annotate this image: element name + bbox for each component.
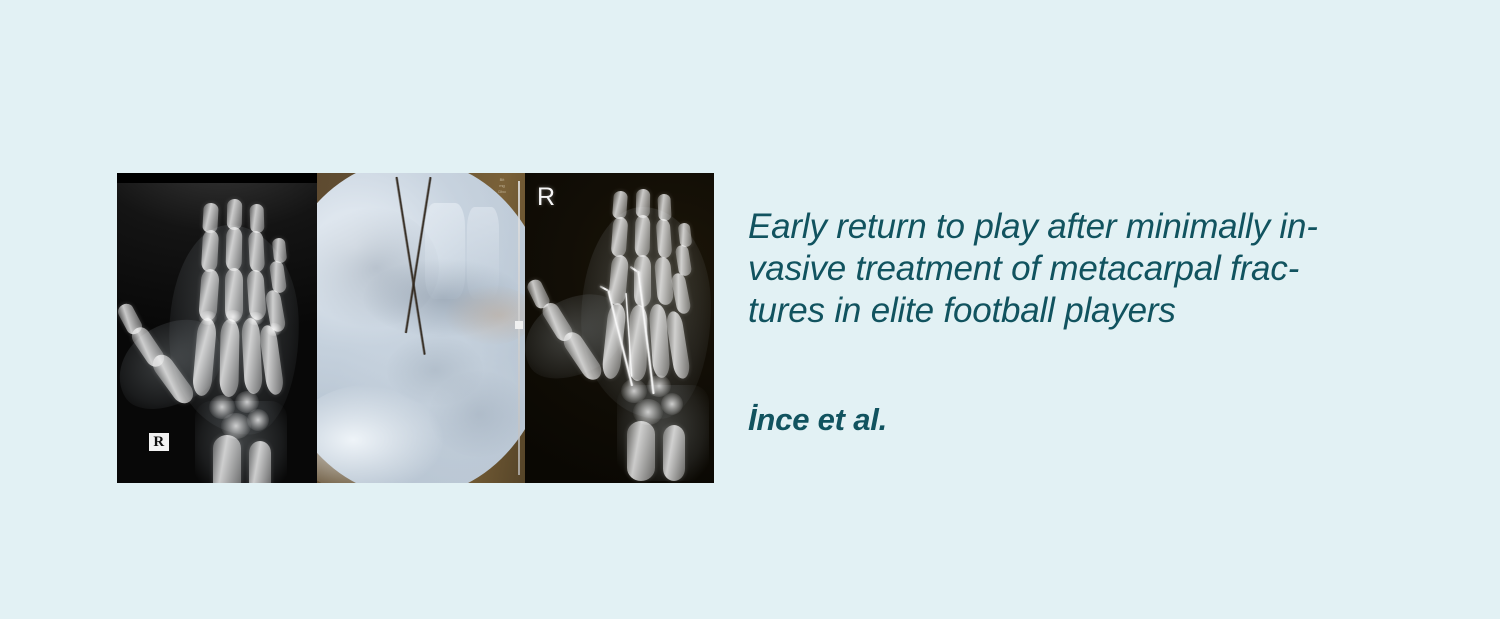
bone-phalanx <box>226 227 243 271</box>
bone-phalanx <box>272 237 288 263</box>
bone-radius <box>627 421 655 481</box>
film-edge <box>117 173 317 183</box>
bone-phalanx <box>201 230 219 273</box>
mcp-joint <box>247 312 264 325</box>
bone-phalanx <box>249 204 264 233</box>
fluoroscopy-scale-tick <box>515 321 523 329</box>
bone-ulna <box>663 425 685 481</box>
bone-phalanx <box>202 203 219 234</box>
side-marker-right: R <box>537 185 555 210</box>
bone-ulna <box>249 441 271 483</box>
bone-phalanx <box>227 199 243 230</box>
article-authors: İnce et al. <box>748 401 887 439</box>
mcp-joint <box>199 311 217 325</box>
panel-preop-radiograph: R <box>117 173 317 483</box>
bone-phalanx <box>657 194 671 222</box>
bone-radius <box>213 435 241 483</box>
bone-phalanx <box>636 189 651 218</box>
panel-intraoperative-fluoroscopy: Bit mg Dbo <box>317 173 525 483</box>
radiograph-figure-strip: R Bit mg Dbo <box>117 173 714 483</box>
page-root: R Bit mg Dbo <box>0 0 1500 619</box>
panel-postop-radiograph: R <box>525 173 714 483</box>
carpal-bone <box>247 409 269 431</box>
side-marker-right: R <box>149 433 169 451</box>
bone-phalanx <box>656 219 673 259</box>
mcp-joint <box>224 310 242 324</box>
article-text-block: Early return to play after minimally in-… <box>748 206 1468 332</box>
bone-phalanx <box>248 231 265 273</box>
fluoroscopy-osd-text: Bit mg Dbo <box>491 177 513 195</box>
bone-phalanx <box>635 215 651 257</box>
mcp-joint <box>266 323 282 336</box>
bone-phalanx <box>612 191 628 220</box>
article-title: Early return to play after minimally in-… <box>748 206 1468 332</box>
bone-phalanx <box>678 222 693 247</box>
carpal-bone <box>661 393 683 415</box>
bone-metacarpal <box>219 319 239 397</box>
